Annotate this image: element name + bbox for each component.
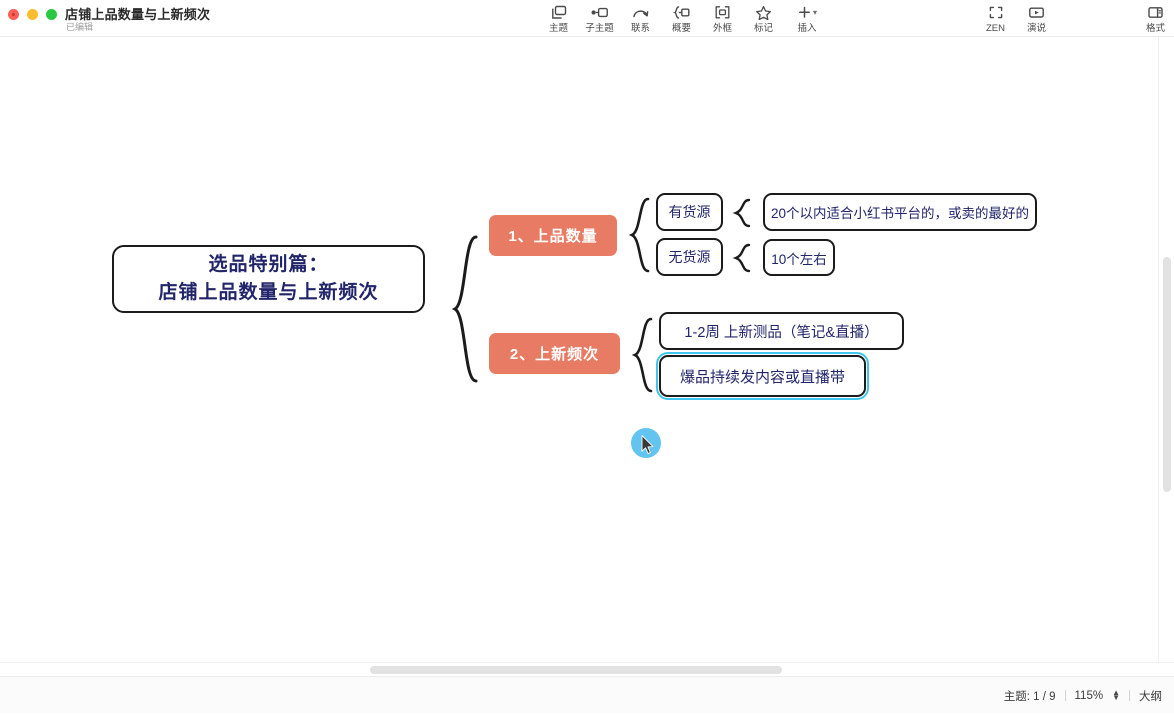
toolbar-label-relation: 联系 <box>631 23 650 34</box>
leaf-node-hot-product-label: 爆品持续发内容或直播带 <box>680 366 845 387</box>
subtopic-icon <box>591 3 609 21</box>
root-brace-connector <box>440 233 480 385</box>
leaf-node-10-around-label: 10个左右 <box>771 248 827 268</box>
toolbar-button-topic[interactable]: 主题 <box>538 2 579 34</box>
root-node[interactable]: 选品特别篇： 店铺上品数量与上新频次 <box>112 245 425 313</box>
branch-node-1-label: 1、上品数量 <box>508 225 597 246</box>
leaf-node-youhuoyuan[interactable]: 有货源 <box>656 193 723 231</box>
toolbar-label-format: 格式 <box>1146 23 1165 34</box>
horizontal-scrollbar-track[interactable] <box>0 662 1174 676</box>
topic-icon <box>551 3 567 21</box>
root-node-line-2: 店铺上品数量与上新频次 <box>158 280 378 306</box>
leaf-node-weekly-test[interactable]: 1-2周 上新测品（笔记&直播） <box>659 312 904 350</box>
leaf-node-hot-product-selected[interactable]: 爆品持续发内容或直播带 <box>659 355 866 397</box>
toolbar-button-insert[interactable]: ▾ 插入 <box>784 2 830 34</box>
maximize-window-button[interactable] <box>46 9 57 20</box>
document-edit-status: 已编辑 <box>66 20 93 33</box>
toolbar-label-presentation: 演说 <box>1027 23 1046 34</box>
toolbar-button-zen[interactable]: ZEN <box>975 2 1016 34</box>
zen-icon <box>988 3 1004 21</box>
toolbar-label-subtopic: 子主题 <box>585 23 614 34</box>
leaf-node-20-within-label: 20个以内适合小红书平台的，或卖的最好的 <box>771 202 1029 222</box>
leaf-node-20-within[interactable]: 20个以内适合小红书平台的，或卖的最好的 <box>763 193 1037 231</box>
toolbar-center: 主题 子主题 联系 <box>538 2 830 34</box>
minimize-window-button[interactable] <box>27 9 38 20</box>
branch1-brace-connector <box>624 195 652 275</box>
leaf-node-10-around[interactable]: 10个左右 <box>763 239 835 276</box>
status-topic-count: 主题: 1 / 9 <box>1004 688 1056 704</box>
toolbar-button-format[interactable]: 格式 <box>1135 2 1174 34</box>
title-bar: 店铺上品数量与上新频次 已编辑 主题 子主题 <box>0 0 1174 37</box>
branch2-brace-connector <box>627 315 655 395</box>
format-icon <box>1147 3 1164 21</box>
leaf-node-wuhuoyuan-label: 无货源 <box>669 247 711 267</box>
toolbar-label-boundary: 外框 <box>713 23 732 34</box>
leaf-node-youhuoyuan-label: 有货源 <box>669 202 711 222</box>
marker-icon <box>755 3 772 21</box>
branch-node-1[interactable]: 1、上品数量 <box>489 215 617 256</box>
mouse-cursor-icon <box>641 435 655 455</box>
toolbar-button-subtopic[interactable]: 子主题 <box>579 2 620 34</box>
leaf-node-wuhuoyuan[interactable]: 无货源 <box>656 238 723 276</box>
status-divider-1 <box>1065 690 1066 701</box>
youhuoyuan-brace-connector <box>730 197 754 229</box>
root-node-line-1: 选品特别篇： <box>208 252 328 278</box>
toolbar-label-marker: 标记 <box>754 23 773 34</box>
insert-icon: ▾ <box>797 3 817 21</box>
status-zoom-level[interactable]: 115% <box>1075 690 1104 702</box>
boundary-icon <box>714 3 731 21</box>
close-window-button[interactable] <box>8 9 19 20</box>
toolbar-button-boundary[interactable]: 外框 <box>702 2 743 34</box>
relation-icon <box>632 3 650 21</box>
status-bar-right-group: 主题: 1 / 9 115% ▲ ▼ 大纲 <box>1004 677 1162 714</box>
status-divider-2 <box>1129 690 1130 701</box>
wuhuoyuan-brace-connector <box>730 242 754 274</box>
mindmap-canvas[interactable]: 选品特别篇： 店铺上品数量与上新频次 1、上品数量 有货源 无货源 20个以内适… <box>0 37 1174 676</box>
toolbar-label-topic: 主题 <box>549 23 568 34</box>
chevron-down-icon: ▾ <box>813 9 817 17</box>
toolbar-label-summary: 概要 <box>672 23 691 34</box>
toolbar-label-insert: 插入 <box>797 23 816 34</box>
status-bar: 主题: 1 / 9 115% ▲ ▼ 大纲 <box>0 676 1174 713</box>
branch-node-2[interactable]: 2、上新频次 <box>489 333 620 374</box>
toolbar-button-relation[interactable]: 联系 <box>620 2 661 34</box>
toolbar-button-presentation[interactable]: 演说 <box>1016 2 1057 34</box>
toolbar-label-zen: ZEN <box>986 23 1005 34</box>
zoom-stepper-icon[interactable]: ▲ ▼ <box>1112 690 1120 700</box>
summary-icon <box>673 3 691 21</box>
horizontal-scrollbar-thumb[interactable] <box>370 666 782 674</box>
status-outline-button[interactable]: 大纲 <box>1139 688 1162 704</box>
toolbar-button-summary[interactable]: 概要 <box>661 2 702 34</box>
window-controls[interactable] <box>8 9 57 20</box>
play-icon <box>1028 3 1045 21</box>
toolbar-right: ZEN 演说 格式 <box>975 2 1174 34</box>
branch-node-2-label: 2、上新频次 <box>510 343 599 364</box>
zoom-stepper-down-icon[interactable]: ▼ <box>1112 695 1120 700</box>
leaf-node-weekly-test-label: 1-2周 上新测品（笔记&直播） <box>684 321 878 342</box>
toolbar-button-marker[interactable]: 标记 <box>743 2 784 34</box>
vertical-scrollbar-thumb[interactable] <box>1163 257 1171 492</box>
vertical-scrollbar-track[interactable] <box>1158 37 1174 676</box>
